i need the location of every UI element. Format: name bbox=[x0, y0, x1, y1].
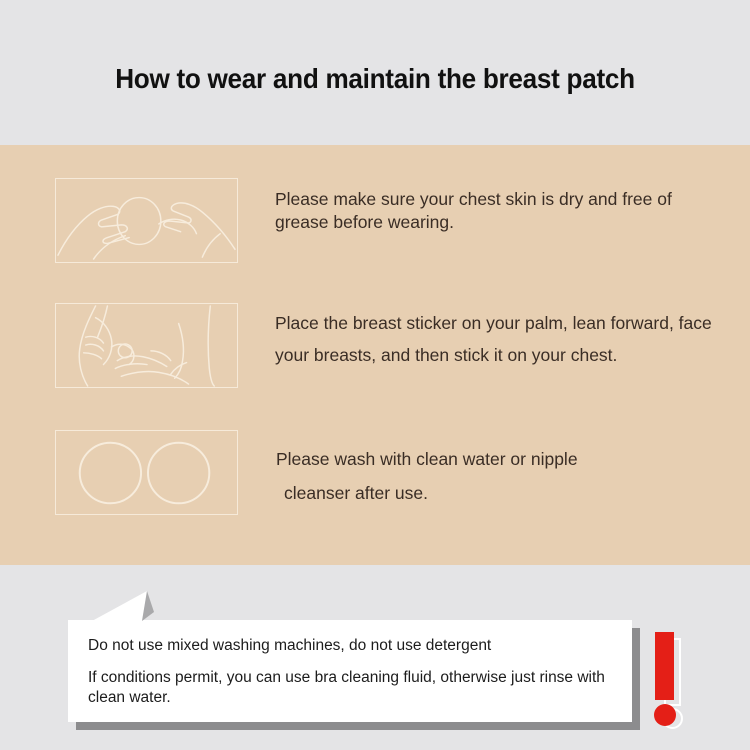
exclamation-dot bbox=[654, 704, 676, 726]
two-hands-holding-patch-illustration bbox=[55, 178, 238, 263]
instruction-step-3-line-2: cleanser after use. bbox=[276, 476, 728, 510]
footer-band: Do not use mixed washing machines, do no… bbox=[0, 565, 750, 750]
callout-text: Do not use mixed washing machines, do no… bbox=[88, 636, 608, 709]
applying-patch-line-art-icon bbox=[56, 304, 237, 387]
callout-tail bbox=[92, 588, 162, 622]
callout-line-2: If conditions permit, you can use bra cl… bbox=[88, 668, 608, 709]
callout-box: Do not use mixed washing machines, do no… bbox=[68, 620, 632, 722]
instructions-band: Please make sure your chest skin is dry … bbox=[0, 145, 750, 565]
instruction-infographic: How to wear and maintain the breast patc… bbox=[0, 0, 750, 750]
instruction-step-3-text: Please wash with clean water or nipple c… bbox=[276, 442, 728, 510]
instruction-step-2-text: Place the breast sticker on your palm, l… bbox=[275, 308, 727, 372]
hand-applying-patch-to-chest-illustration bbox=[55, 303, 238, 388]
callout-tail-icon bbox=[92, 588, 162, 622]
exclamation-mark-icon bbox=[646, 632, 704, 732]
warning-callout: Do not use mixed washing machines, do no… bbox=[68, 620, 638, 730]
instruction-step-1-text: Please make sure your chest skin is dry … bbox=[275, 188, 727, 234]
two-round-patches-illustration bbox=[55, 430, 238, 515]
callout-line-1: Do not use mixed washing machines, do no… bbox=[88, 636, 608, 657]
header-band: How to wear and maintain the breast patc… bbox=[0, 0, 750, 145]
hands-line-art-icon bbox=[56, 179, 237, 262]
page-title: How to wear and maintain the breast patc… bbox=[19, 63, 732, 95]
exclamation-bar bbox=[655, 632, 674, 700]
two-circles-line-art-icon bbox=[56, 431, 237, 514]
instruction-step-3-line-1: Please wash with clean water or nipple bbox=[276, 449, 578, 469]
